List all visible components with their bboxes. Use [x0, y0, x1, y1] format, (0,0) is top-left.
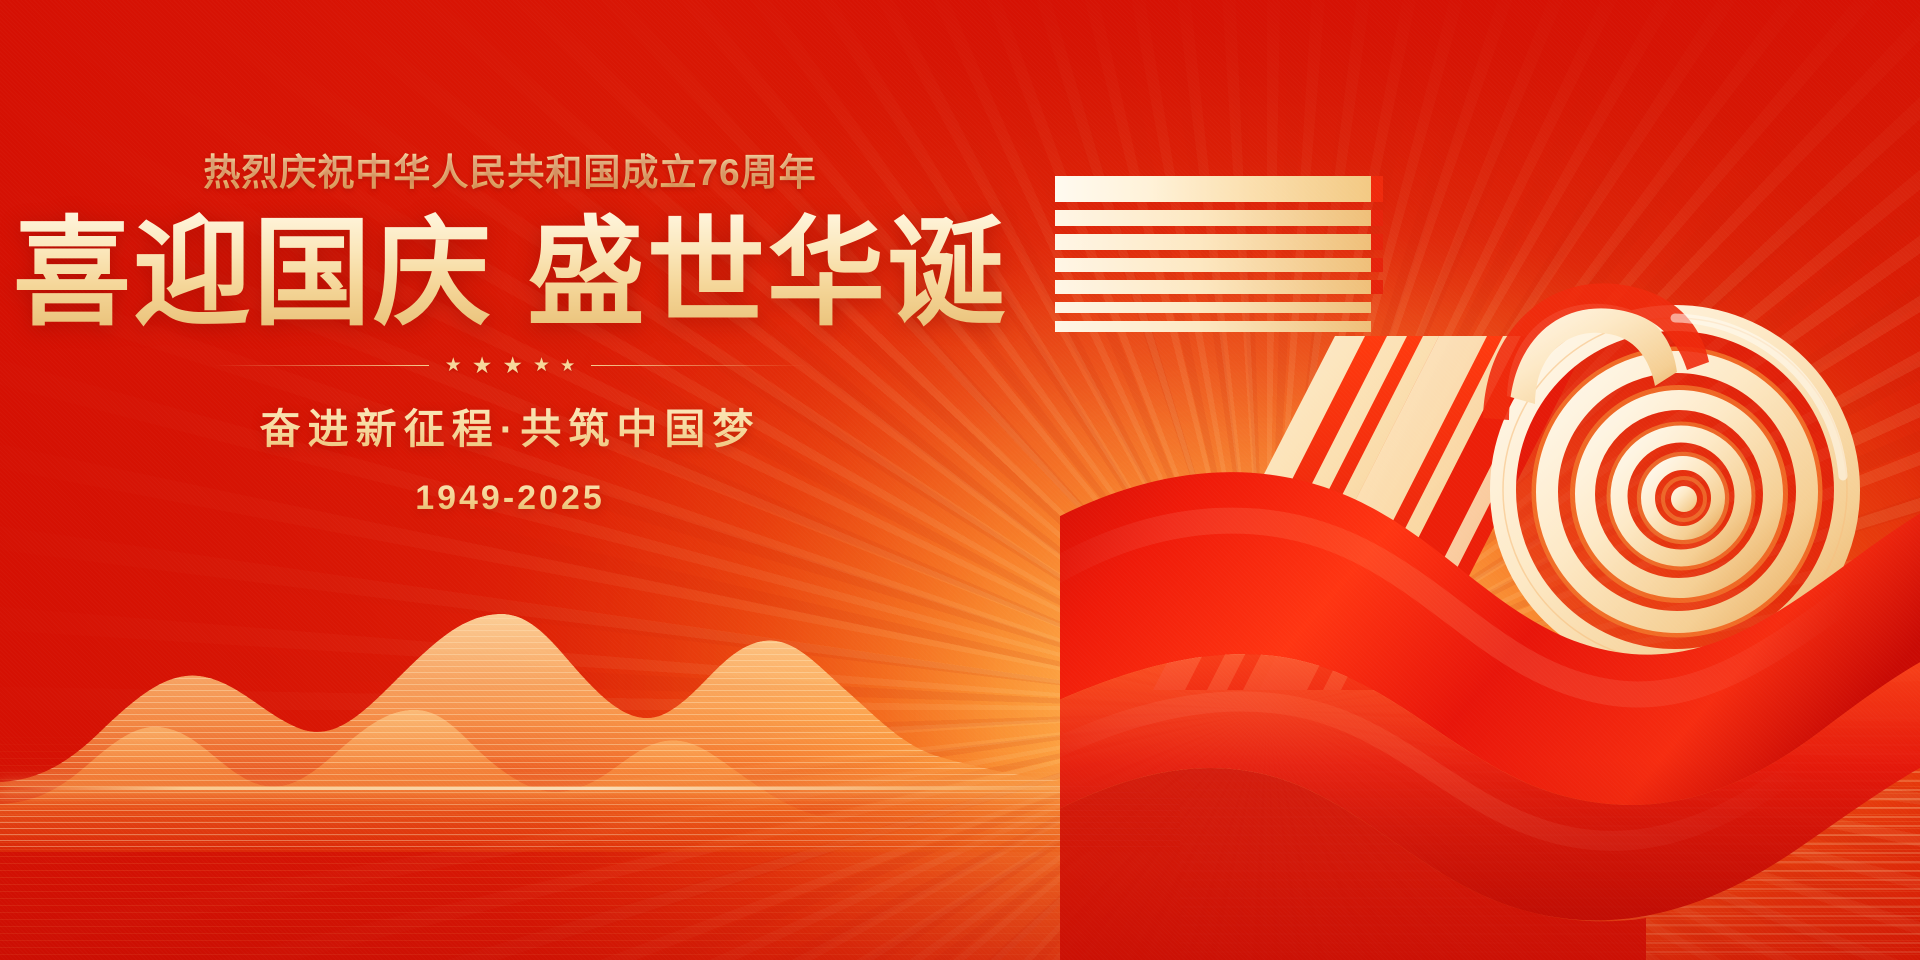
anniversary-number-76-graphic: [1035, 130, 1920, 770]
star-icon: ★: [502, 354, 523, 377]
star-icon: ★: [560, 357, 575, 374]
year-range: 1949-2025: [0, 479, 1020, 518]
divider-line-left: [214, 365, 429, 366]
star-icon: ★: [445, 356, 462, 375]
national-day-poster: 热烈庆祝中华人民共和国成立76周年 喜迎国庆盛世华诞 ★ ★ ★ ★ ★ 奋进新…: [0, 0, 1920, 960]
page-title: 喜迎国庆盛世华诞: [0, 208, 1020, 340]
numeral-six-spiral: [1483, 283, 1857, 672]
poster-text-block: 热烈庆祝中华人民共和国成立76周年 喜迎国庆盛世华诞 ★ ★ ★ ★ ★ 奋进新…: [0, 150, 1020, 518]
five-star-group: ★ ★ ★ ★ ★: [445, 354, 576, 377]
star-divider: ★ ★ ★ ★ ★: [0, 354, 1020, 377]
celebration-headline: 热烈庆祝中华人民共和国成立76周年: [0, 150, 1020, 196]
divider-line-right: [591, 365, 806, 366]
numeral-seven-horizontal-bands: [1055, 174, 1383, 332]
star-icon: ★: [472, 354, 493, 377]
star-icon: ★: [533, 356, 550, 375]
main-title-part-2: 盛世华诞: [527, 208, 1007, 340]
main-title-part-1: 喜迎国庆: [13, 208, 493, 340]
bottom-vignette: [0, 760, 1920, 960]
poster-tagline: 奋进新征程·共筑中国梦: [0, 395, 1020, 455]
